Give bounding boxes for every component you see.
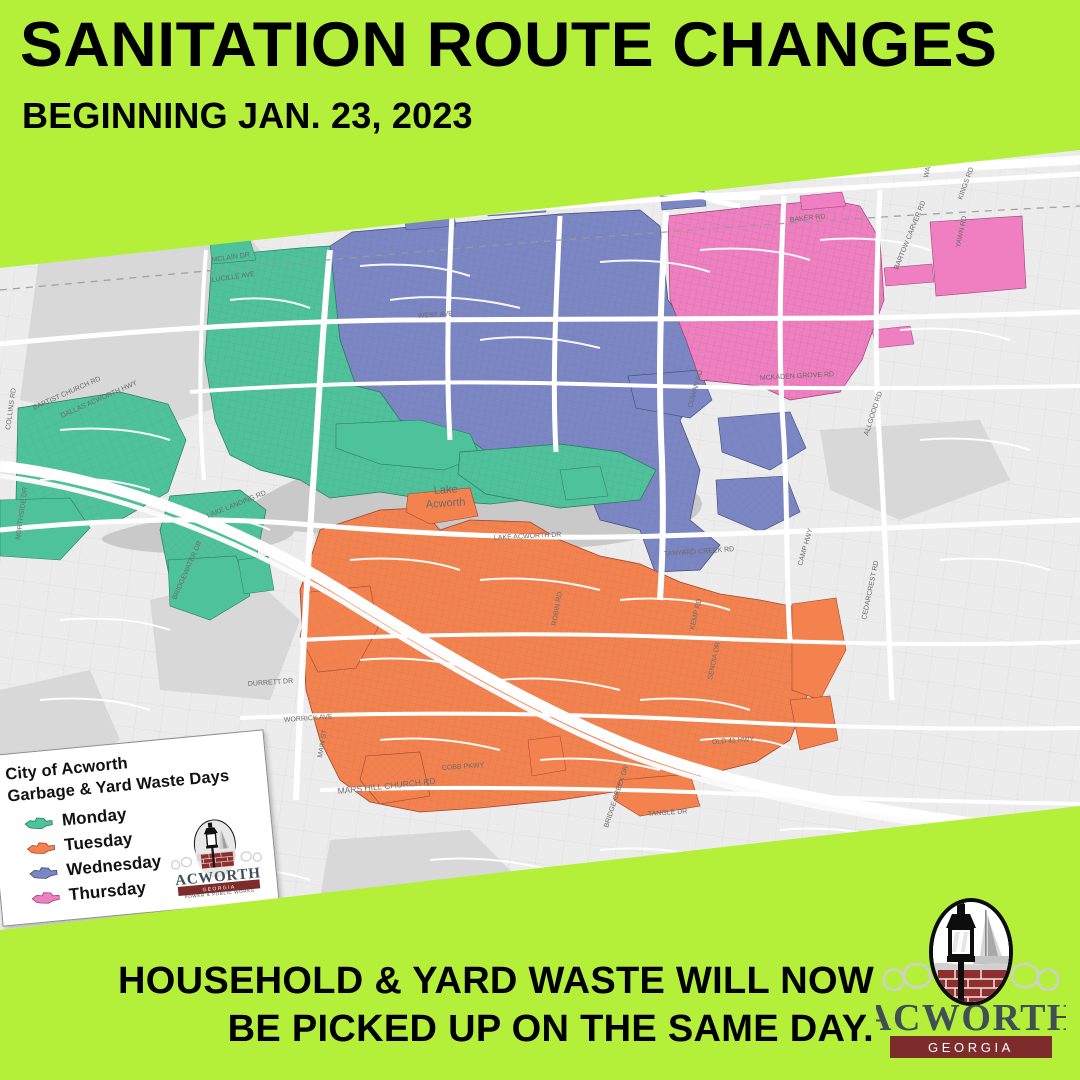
page-title: SANITATION ROUTE CHANGES (20, 14, 997, 77)
acworth-city-logo: ACWORTH GEORGIA (876, 894, 1066, 1072)
legend-label-monday: Monday (61, 805, 127, 831)
poster: I 75 RAMP I 75 EXPY HOLT RD WASHINGTON R… (0, 0, 1080, 1080)
legend-acworth-logo: ACWORTH GEORGIA POWER & PUBLIC WORKS (164, 815, 269, 900)
footer-message-line1: HOUSEHOLD & YARD WASTE WILL NOW (118, 957, 874, 1006)
swatch-thursday-icon (31, 889, 62, 907)
logo-city-name: ACWORTH (876, 997, 1066, 1039)
swatch-tuesday-icon (26, 839, 57, 857)
footer-message: HOUSEHOLD & YARD WASTE WILL NOW BE PICKE… (118, 957, 874, 1054)
map-legend[interactable]: City of Acworth Garbage & Yard Waste Day… (0, 729, 279, 926)
footer-message-line2: BE PICKED UP ON THE SAME DAY. (118, 1005, 874, 1054)
logo-state-name: GEORGIA (928, 1040, 1014, 1055)
svg-text:Lake: Lake (433, 483, 458, 497)
page-subtitle: BEGINNING JAN. 23, 2023 (22, 98, 473, 134)
swatch-wednesday-icon (28, 864, 59, 882)
swatch-monday-icon (23, 814, 54, 832)
legend-label-thursday: Thursday (68, 878, 147, 905)
